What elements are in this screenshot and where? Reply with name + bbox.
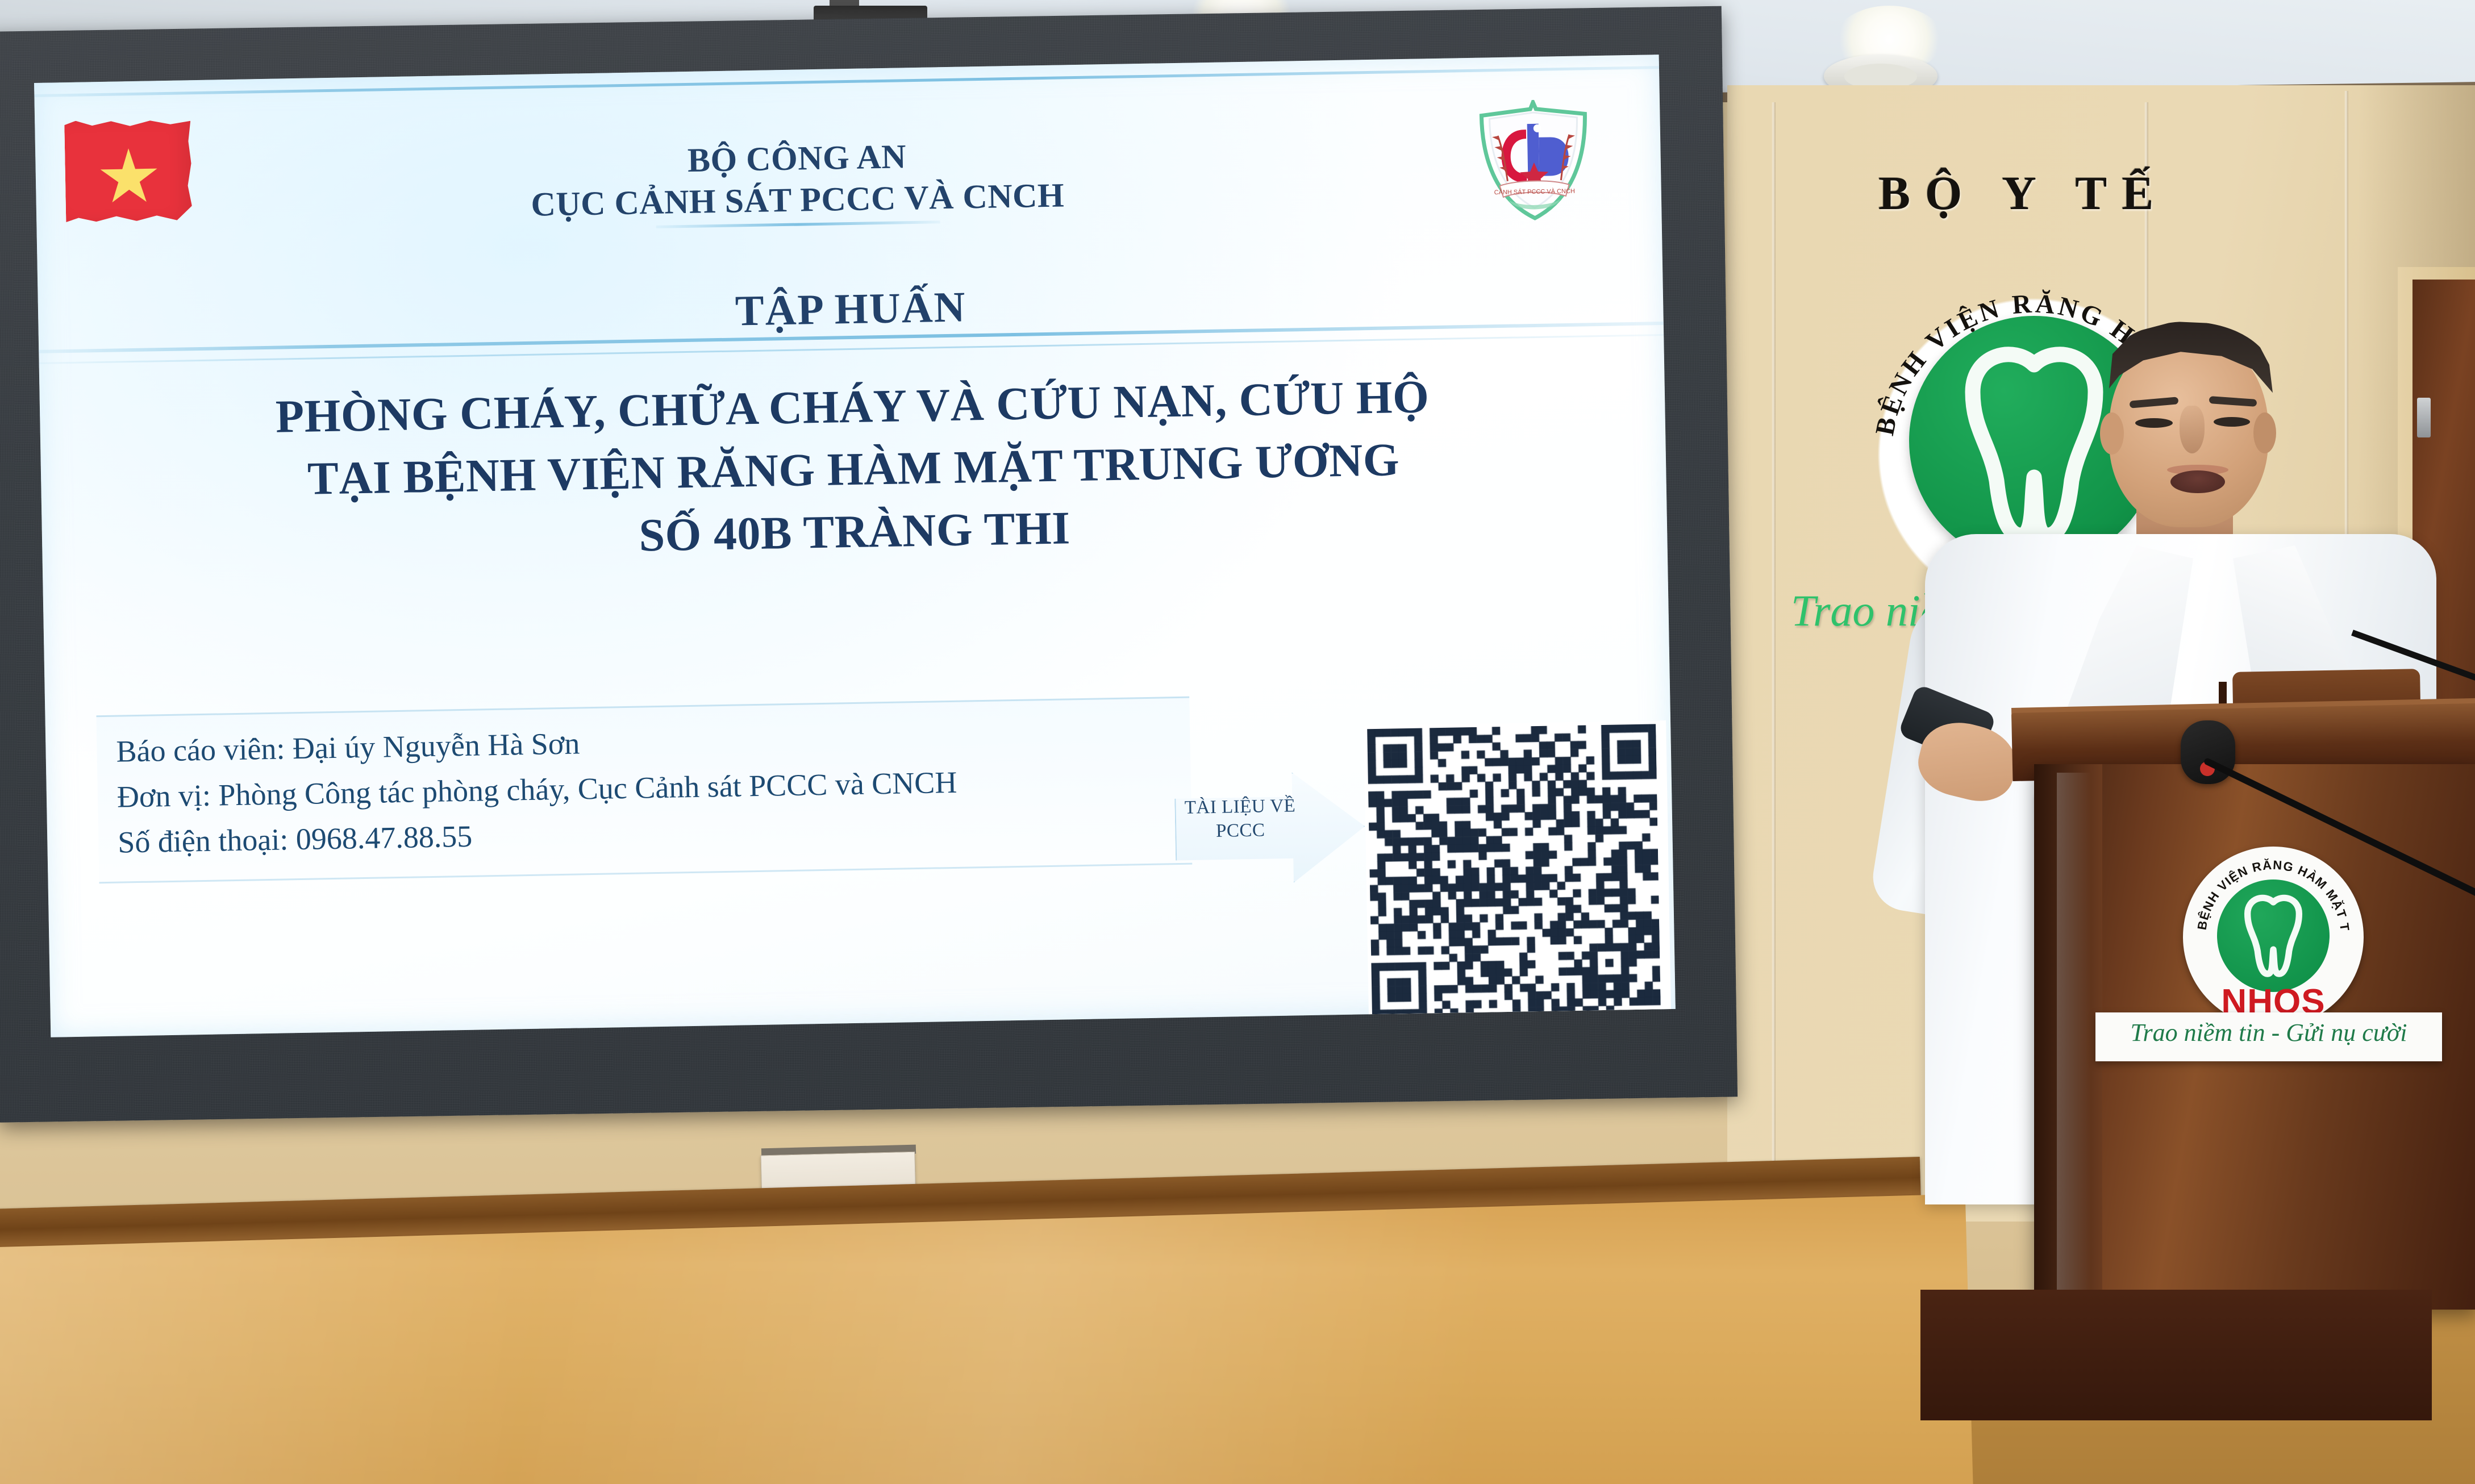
wall-panel-seam	[1772, 102, 1776, 1227]
tooth-icon	[1949, 341, 2119, 545]
plaque-slogan: Trao niềm tin - Gửi nụ cười	[2095, 1018, 2442, 1047]
wall-ministry-sign: BỘ Y TẾ	[1878, 166, 2168, 221]
door-hinge-icon	[2417, 398, 2431, 437]
police-fire-emblem-icon: CẢNH SÁT PCCC VÀ CNCH	[1479, 99, 1589, 221]
speaker-eye-left	[2135, 418, 2173, 428]
speaker-ear-left	[2100, 412, 2124, 455]
speaker-mouth	[2170, 470, 2225, 493]
speaker-ear-right	[2253, 412, 2276, 453]
slide-header: BỘ CÔNG AN CỤC CẢNH SÁT PCCC VÀ CNCH	[353, 130, 1241, 229]
slide-title: PHÒNG CHÁY, CHỮA CHÁY VÀ CỨU NẠN, CỨU HỘ…	[107, 362, 1599, 576]
presentation-slide: BỘ CÔNG AN CỤC CẢNH SÁT PCCC VÀ CNCH CẢN…	[34, 55, 1676, 1037]
podium-highlight	[2057, 773, 2091, 1301]
svg-text:CẢNH SÁT PCCC VÀ CNCH: CẢNH SÁT PCCC VÀ CNCH	[1494, 187, 1575, 196]
callout-line-2: PCCC	[1175, 818, 1306, 844]
conference-room-scene: BỘ Y TẾ BỆNH VIỆN RĂNG HÀM MẶT TRUNG ƯƠN…	[0, 0, 2475, 1484]
podium-base	[1920, 1290, 2432, 1420]
speaker-eye-right	[2214, 417, 2250, 427]
callout-label: TÀI LIỆU VỀ PCCC	[1174, 794, 1306, 844]
qr-code-icon[interactable]	[1364, 720, 1671, 1028]
callout-line-1: TÀI LIỆU VỀ	[1174, 794, 1306, 820]
speaker-nose	[2180, 406, 2205, 453]
presenter-info-card: Báo cáo viên: Đại úy Nguyễn Hà Sơn Đơn v…	[96, 697, 1192, 883]
tooth-icon	[2237, 892, 2309, 978]
